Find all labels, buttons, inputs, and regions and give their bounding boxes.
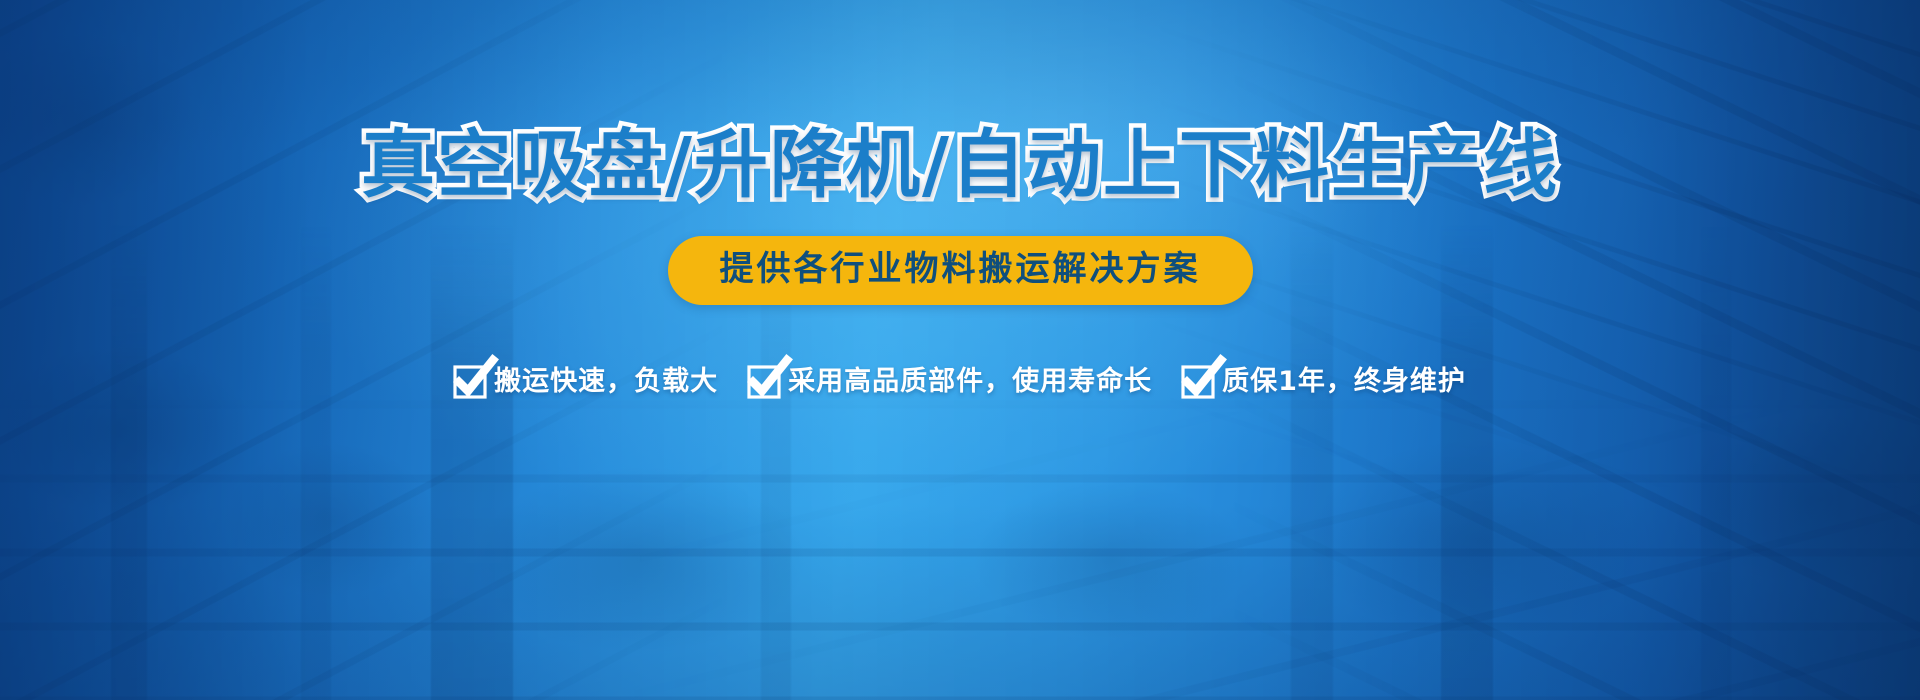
- feature-item: 采用高品质部件，使用寿命长: [748, 359, 1152, 398]
- feature-label: 采用高品质部件，使用寿命长: [788, 359, 1152, 398]
- checkbox-check-icon: [1182, 362, 1216, 396]
- feature-list: 搬运快速，负载大 采用高品质部件，使用寿命长: [454, 359, 1466, 398]
- banner-headline: 真空吸盘/升降机/自动上下料生产线: [361, 128, 1559, 202]
- banner-content: 真空吸盘/升降机/自动上下料生产线 提供各行业物料搬运解决方案 搬运快速，负载大: [0, 0, 1920, 700]
- checkbox-check-icon: [454, 362, 488, 396]
- feature-label: 质保1年，终身维护: [1222, 359, 1466, 398]
- promo-banner: 真空吸盘/升降机/自动上下料生产线 提供各行业物料搬运解决方案 搬运快速，负载大: [0, 0, 1920, 700]
- feature-item: 搬运快速，负载大: [454, 359, 718, 398]
- feature-label: 搬运快速，负载大: [494, 359, 718, 398]
- banner-subtitle-pill: 提供各行业物料搬运解决方案: [668, 236, 1253, 305]
- feature-item: 质保1年，终身维护: [1182, 359, 1466, 398]
- checkbox-check-icon: [748, 362, 782, 396]
